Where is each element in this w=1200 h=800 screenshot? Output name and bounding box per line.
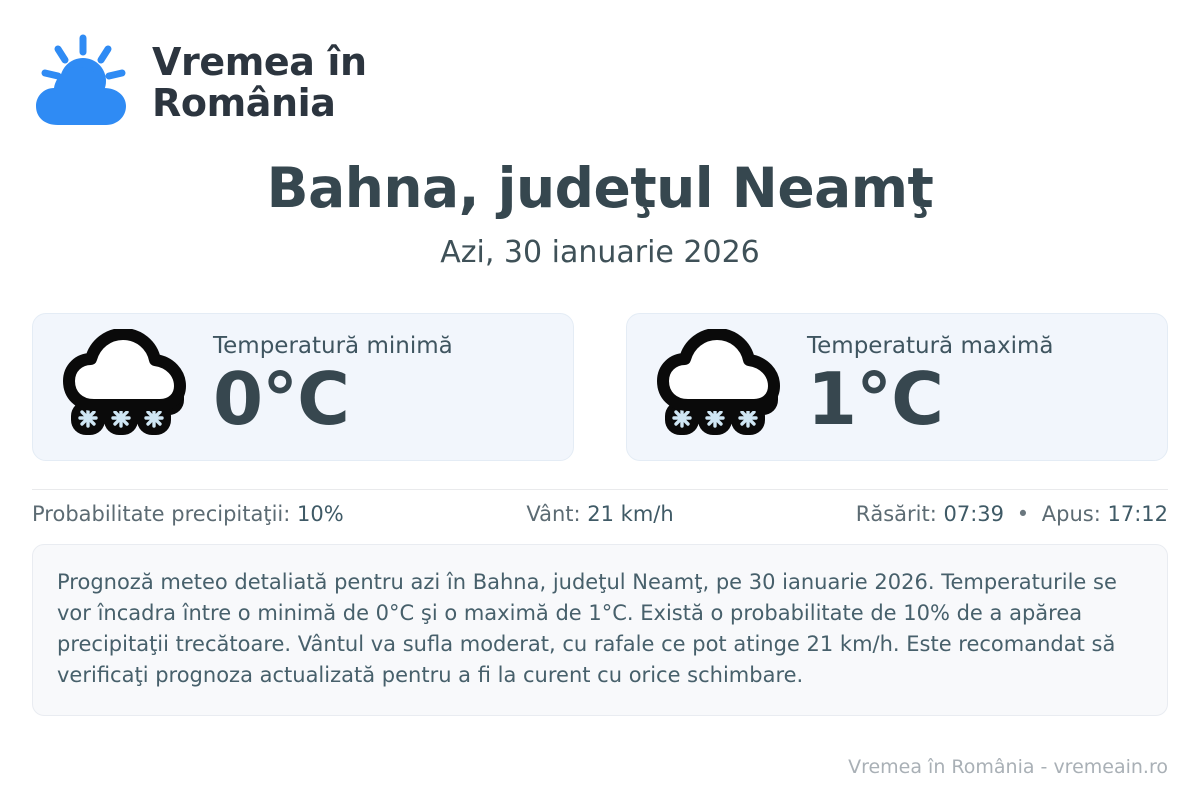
snow-cloud-icon: [653, 329, 785, 445]
sun-times-separator: •: [1011, 502, 1035, 526]
wind-stat: Vânt: 21 km/h: [411, 502, 790, 526]
forecast-description: Prognoză meteo detaliată pentru azi în B…: [32, 544, 1168, 716]
page-subtitle: Azi, 30 ianuarie 2026: [32, 236, 1168, 269]
wind-label: Vânt:: [526, 502, 580, 526]
sun-behind-cloud-icon: [32, 33, 136, 133]
min-temperature-value: 0°C: [213, 363, 453, 436]
wind-value: 21 km/h: [587, 502, 673, 526]
brand-header: Vremea în România: [32, 0, 1168, 118]
max-temperature-card: Temperatură maximă 1°C: [626, 313, 1168, 461]
sun-times-stat: Răsărit: 07:39 • Apus: 17:12: [789, 502, 1168, 526]
temperature-cards: Temperatură minimă 0°C: [32, 313, 1168, 461]
snow-cloud-icon: [59, 329, 191, 445]
max-temperature-body: Temperatură maximă 1°C: [807, 333, 1053, 440]
precipitation-stat: Probabilitate precipitaţii: 10%: [32, 502, 411, 526]
min-temperature-body: Temperatură minimă 0°C: [213, 333, 453, 440]
sunset-value: 17:12: [1107, 502, 1168, 526]
page-title: Bahna, judeţul Neamţ: [32, 160, 1168, 218]
sunrise-label: Răsărit:: [856, 502, 937, 526]
footer-attribution: Vremea în România - vremeain.ro: [848, 756, 1168, 778]
sunset-label: Apus:: [1042, 502, 1101, 526]
brand-name: Vremea în România: [152, 42, 367, 124]
precipitation-label: Probabilitate precipitaţii:: [32, 502, 290, 526]
sunrise-value: 07:39: [943, 502, 1004, 526]
min-temperature-card: Temperatură minimă 0°C: [32, 313, 574, 461]
stats-row: Probabilitate precipitaţii: 10% Vânt: 21…: [32, 490, 1168, 538]
max-temperature-value: 1°C: [807, 363, 1053, 436]
weather-page: Vremea în România Bahna, judeţul Neamţ A…: [0, 0, 1200, 800]
precipitation-value: 10%: [297, 502, 344, 526]
